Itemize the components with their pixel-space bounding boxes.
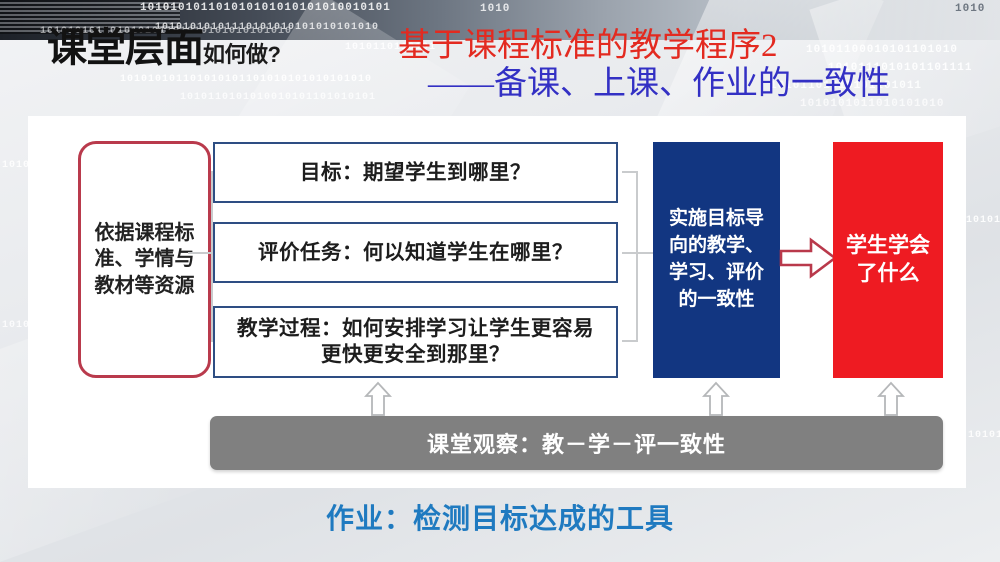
source-box: 依据课程标准、学情与教材等资源 [78, 141, 211, 378]
step-box-assessment: 评价任务：何以知道学生在哪里？ [213, 222, 618, 283]
heading-main-text: 课堂层面 [47, 28, 203, 68]
right-bracket-arm-top [622, 171, 638, 173]
binary-decor-row: 101011010101 [966, 215, 1000, 226]
implementation-box: 实施目标导向的教学、学习、评价的一致性 [653, 142, 780, 378]
observation-bar-label: 课堂观察：教－学－评一致性 [427, 427, 726, 459]
step-box-process: 教学过程：如何安排学习让学生更容易更快更安全到那里？ [213, 306, 618, 378]
step-box-goal: 目标：期望学生到哪里？ [213, 142, 618, 203]
slide-title: 基于课程标准的教学程序2 ——备课、上课、作业的一致性 [398, 28, 988, 104]
binary-decor-row: 101010101101010101101010101010101010 [120, 74, 372, 85]
right-arrow-icon [779, 236, 837, 280]
right-bracket-spine [636, 171, 638, 341]
page-heading: 课堂层面 如何做? [47, 28, 280, 68]
up-arrow-icon [364, 381, 392, 417]
binary-decor-row: 1010110101010010101101010101 [180, 92, 376, 103]
footnote-text: 作业：检测目标达成的工具 [0, 497, 1000, 537]
binary-decor-row: 1010101101010101 [968, 430, 1000, 441]
implementation-box-label: 实施目标导向的教学、学习、评价的一致性 [665, 206, 769, 314]
step-box-goal-label: 目标：期望学生到哪里？ [300, 160, 531, 186]
source-box-label: 依据课程标准、学情与教材等资源 [93, 220, 197, 299]
observation-bar: 课堂观察：教－学－评一致性 [210, 416, 943, 470]
slide-canvas: 101010101101010101010101010010101 101010… [0, 0, 1000, 562]
diagram-card: 依据课程标准、学情与教材等资源 目标：期望学生到哪里？ 评价任务：何以知道学生在… [28, 116, 966, 488]
step-box-assessment-label: 评价任务：何以知道学生在哪里？ [258, 240, 573, 266]
result-box-label: 学生学会了什么 [842, 232, 934, 289]
heading-sub-text: 如何做? [203, 44, 280, 68]
title-secondary: ——备课、上课、作业的一致性 [398, 66, 988, 104]
up-arrow-icon [877, 381, 905, 417]
title-primary: 基于课程标准的教学程序2 [398, 28, 988, 66]
step-box-process-label: 教学过程：如何安排学习让学生更容易更快更安全到那里？ [231, 316, 601, 367]
right-bracket-arm-bottom [622, 340, 638, 342]
left-bracket-stem [188, 252, 213, 254]
up-arrow-icon [702, 381, 730, 417]
result-box: 学生学会了什么 [833, 142, 943, 378]
